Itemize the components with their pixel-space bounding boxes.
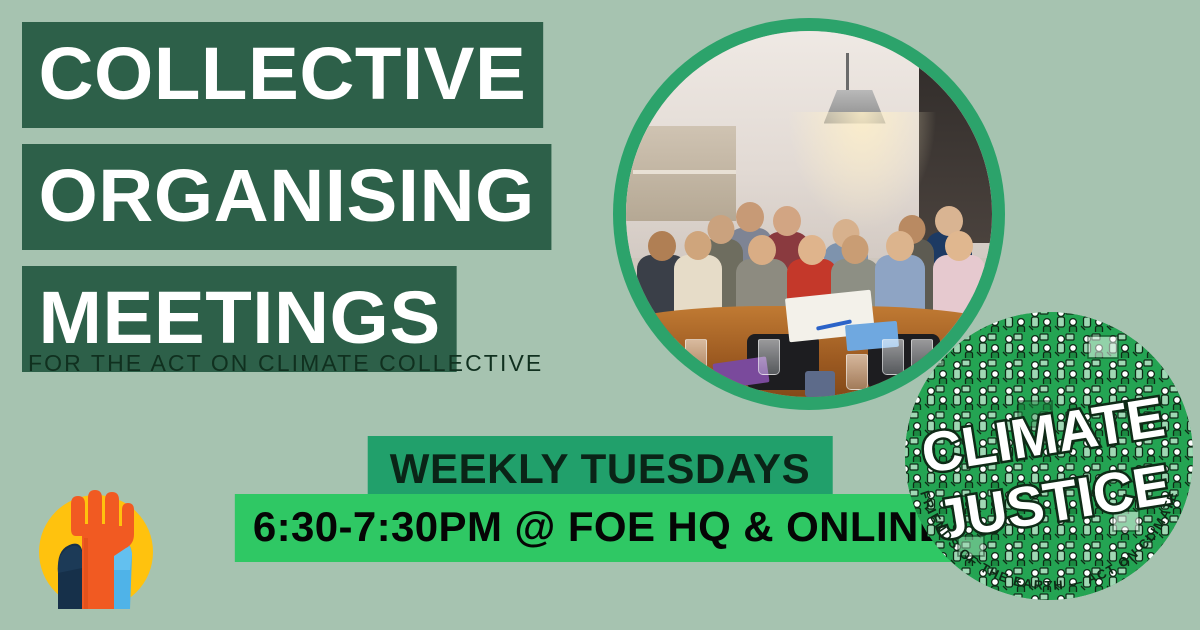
headline-line-1: COLLECTIVE [22,22,543,128]
headline-line-2: ORGANISING [22,144,551,250]
meeting-time-location-bar: 6:30-7:30PM @ FOE HQ & ONLINE [235,494,965,562]
logo-fist-left [58,544,84,609]
photo-glass [846,354,868,390]
photo-glass [758,339,780,375]
photo-glass [685,339,707,375]
subtitle: FOR THE ACT ON CLIMATE COLLECTIVE [28,350,543,377]
climate-justice-badge: CLIMATE JUSTICE FRIENDS OF THE EARTH — A… [898,306,1200,630]
photo-pen-cup [805,371,835,397]
headline-stack: COLLECTIVE ORGANISING MEETINGS [22,22,622,388]
poster-canvas: COLLECTIVE ORGANISING MEETINGS FOR THE A… [0,0,1200,630]
act-on-climate-logo [22,478,170,626]
